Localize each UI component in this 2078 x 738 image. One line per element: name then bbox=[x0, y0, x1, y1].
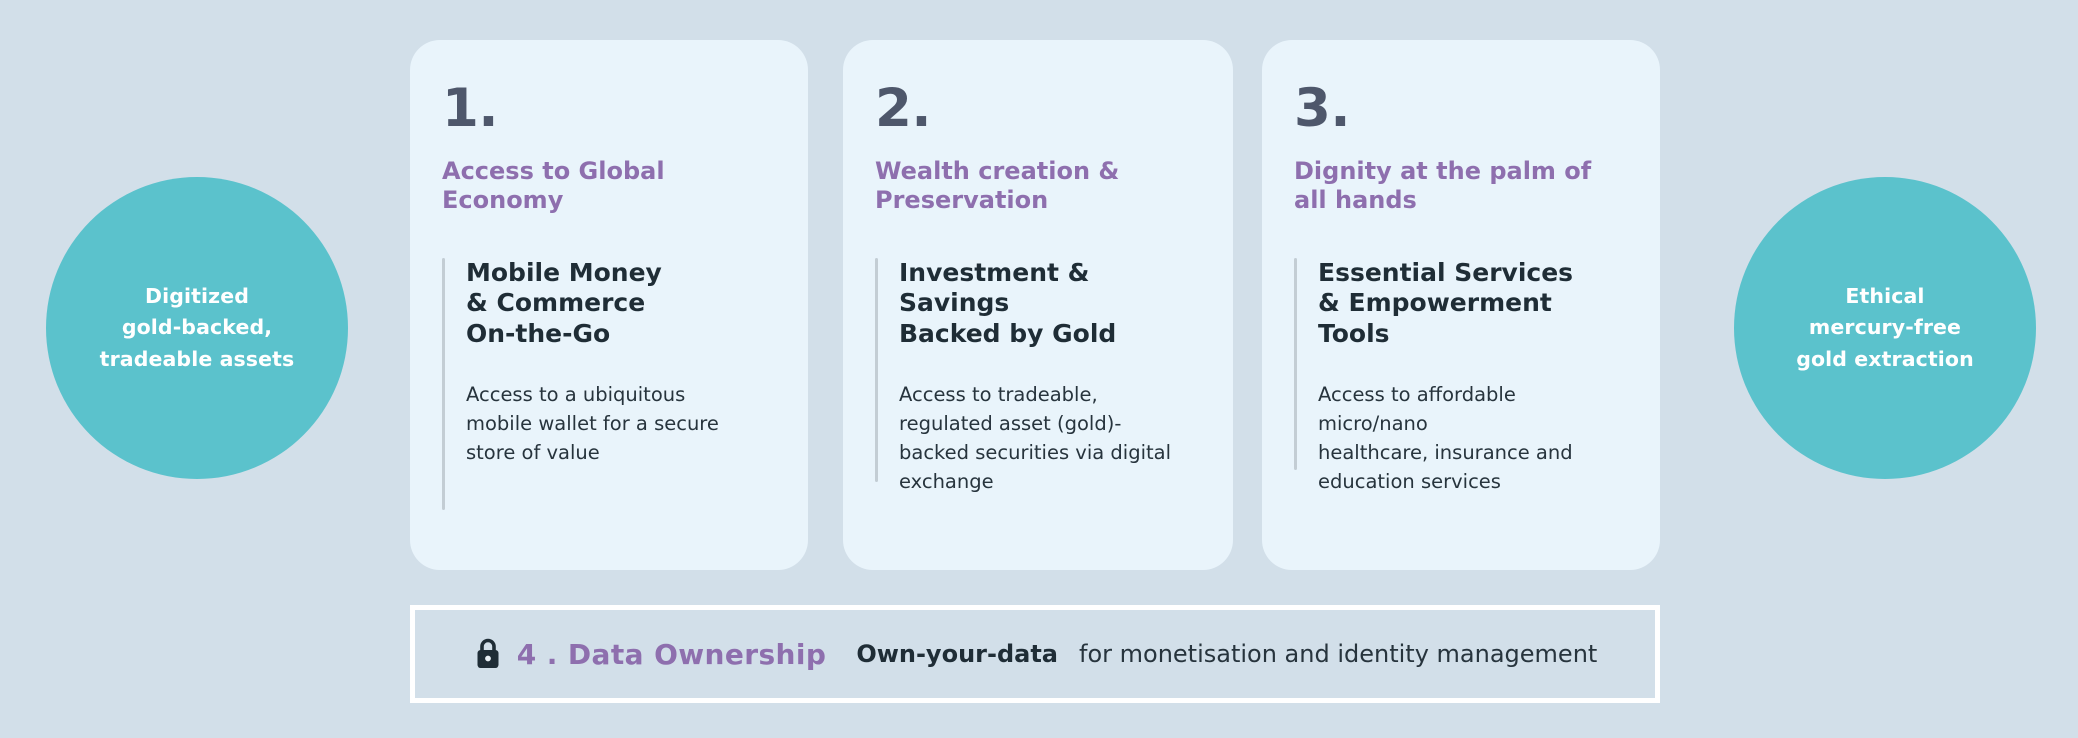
card-1-detail-text: Access to a ubiquitous mobile wallet for… bbox=[466, 381, 719, 468]
card-1-subtitle: Access to Global Economy bbox=[442, 157, 774, 216]
card-3-number: 3. bbox=[1294, 82, 1626, 135]
card-3-detail-text: Access to affordable micro/nano healthca… bbox=[1318, 381, 1626, 496]
card-1-detail: Mobile Money & Commerce On-the-Go Access… bbox=[442, 258, 774, 510]
card-2-detail-text: Access to tradeable, regulated asset (go… bbox=[899, 381, 1199, 496]
card-2-detail-body: Investment & Savings Backed by Gold Acce… bbox=[878, 258, 1199, 497]
infographic-canvas: Digitized gold-backed, tradeable assets … bbox=[0, 0, 2078, 738]
card-2-number: 2. bbox=[875, 82, 1199, 135]
circle-right-label: Ethical mercury-free gold extraction bbox=[1778, 281, 1992, 374]
banner-content: 4 . Data Ownership Own-your-data for mon… bbox=[473, 637, 1598, 671]
card-1-detail-body: Mobile Money & Commerce On-the-Go Access… bbox=[445, 258, 719, 510]
card-1-number: 1. bbox=[442, 82, 774, 135]
card-wealth-creation-preservation[interactable]: 2. Wealth creation & Preservation Invest… bbox=[843, 40, 1233, 570]
circle-right-ethical-extraction: Ethical mercury-free gold extraction bbox=[1734, 177, 2036, 479]
banner-strong-text: Own-your-data bbox=[856, 640, 1058, 668]
circle-left-digitized-assets: Digitized gold-backed, tradeable assets bbox=[46, 177, 348, 479]
card-2-detail: Investment & Savings Backed by Gold Acce… bbox=[875, 258, 1199, 497]
card-2-detail-heading: Investment & Savings Backed by Gold bbox=[899, 258, 1199, 350]
banner-rest-text: for monetisation and identity management bbox=[1079, 640, 1597, 668]
card-3-subtitle: Dignity at the palm of all hands bbox=[1294, 157, 1626, 216]
card-3-detail-heading: Essential Services & Empowerment Tools bbox=[1318, 258, 1626, 350]
banner-step-label: 4 . Data Ownership bbox=[517, 638, 827, 671]
card-3-detail: Essential Services & Empowerment Tools A… bbox=[1294, 258, 1626, 497]
card-3-detail-body: Essential Services & Empowerment Tools A… bbox=[1297, 258, 1626, 497]
card-1-detail-heading: Mobile Money & Commerce On-the-Go bbox=[466, 258, 719, 350]
circle-left-label: Digitized gold-backed, tradeable assets bbox=[82, 281, 313, 374]
card-dignity-at-the-palm-of-all-hands[interactable]: 3. Dignity at the palm of all hands Esse… bbox=[1262, 40, 1660, 570]
lock-icon bbox=[473, 637, 503, 671]
card-2-subtitle: Wealth creation & Preservation bbox=[875, 157, 1199, 216]
data-ownership-banner[interactable]: 4 . Data Ownership Own-your-data for mon… bbox=[410, 605, 1660, 703]
card-access-to-global-economy[interactable]: 1. Access to Global Economy Mobile Money… bbox=[410, 40, 808, 570]
